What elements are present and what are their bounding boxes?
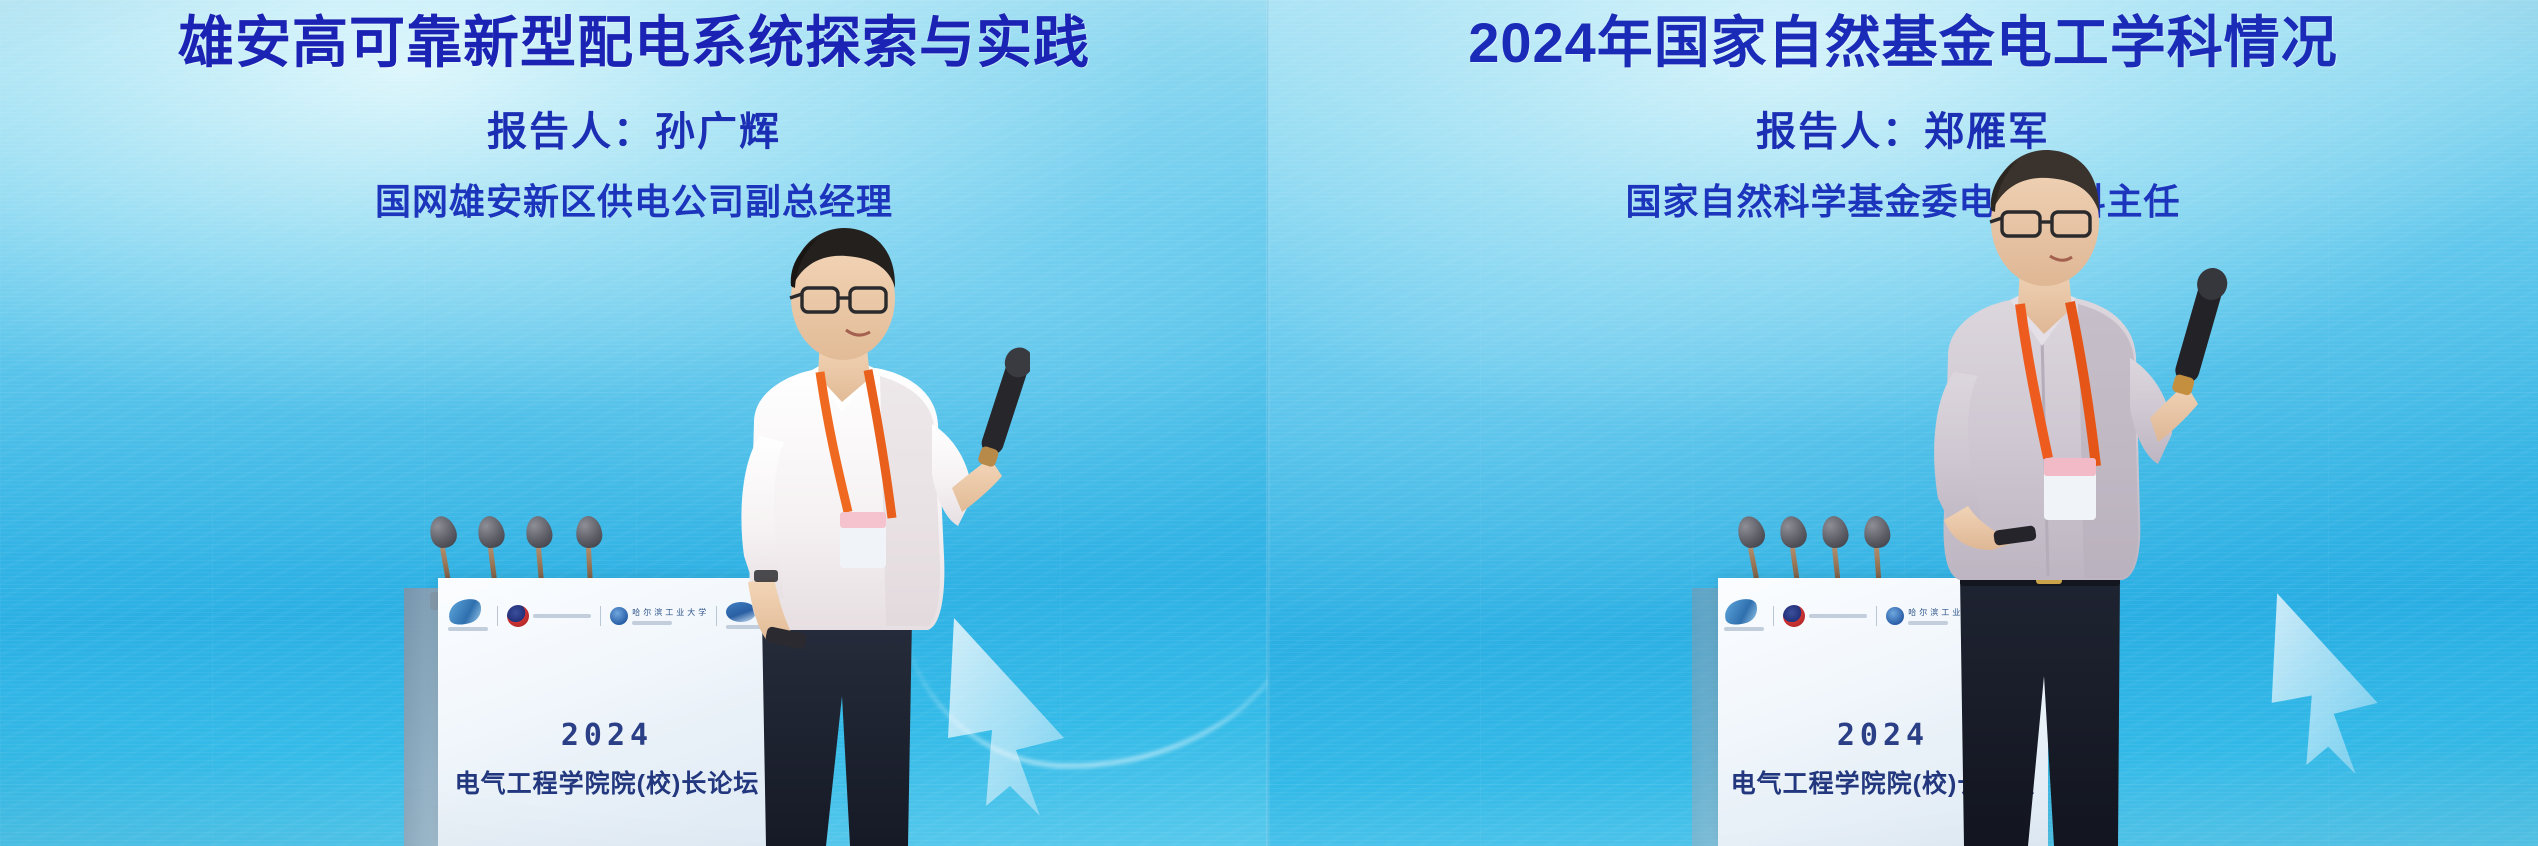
- speaker-figure-left: [700, 226, 1030, 846]
- swoosh-logo-icon: [1724, 600, 1764, 631]
- podium-side-panel: [1692, 588, 1720, 846]
- red-dot-logo-icon: [507, 605, 591, 627]
- swoosh-logo-icon: [448, 600, 488, 631]
- session-title: 2024年国家自然基金电工学科情况: [1268, 14, 2538, 73]
- panel-seam: [1266, 0, 1270, 846]
- podium-side-panel: [404, 588, 440, 846]
- blue-seal-logo-icon: 哈 尔 滨 工 业 大 学: [610, 607, 707, 625]
- logo-divider: [1773, 606, 1774, 626]
- red-dot-logo-icon: [1783, 605, 1867, 627]
- abstract-arrow-icon: [2268, 586, 2478, 786]
- logo-divider: [600, 606, 601, 626]
- speaker-affiliation: 国网雄安新区供电公司副总经理: [0, 173, 1268, 225]
- speaker-line: 报告人：孙广辉: [0, 99, 1268, 157]
- logo-divider: [497, 606, 498, 626]
- dual-panel-stage: 雄安高可靠新型配电系统探索与实践 报告人：孙广辉 国网雄安新区供电公司副总经理: [0, 0, 2538, 846]
- video-panel-right: 2024年国家自然基金电工学科情况 报告人：郑雁军 国家自然科学基金委电工学科主…: [1268, 0, 2538, 846]
- video-panel-left: 雄安高可靠新型配电系统探索与实践 报告人：孙广辉 国网雄安新区供电公司副总经理: [0, 0, 1268, 846]
- backdrop-text-left: 雄安高可靠新型配电系统探索与实践 报告人：孙广辉 国网雄安新区供电公司副总经理: [0, 14, 1268, 225]
- session-title: 雄安高可靠新型配电系统探索与实践: [0, 14, 1268, 73]
- speaker-figure-right: [1868, 146, 2228, 846]
